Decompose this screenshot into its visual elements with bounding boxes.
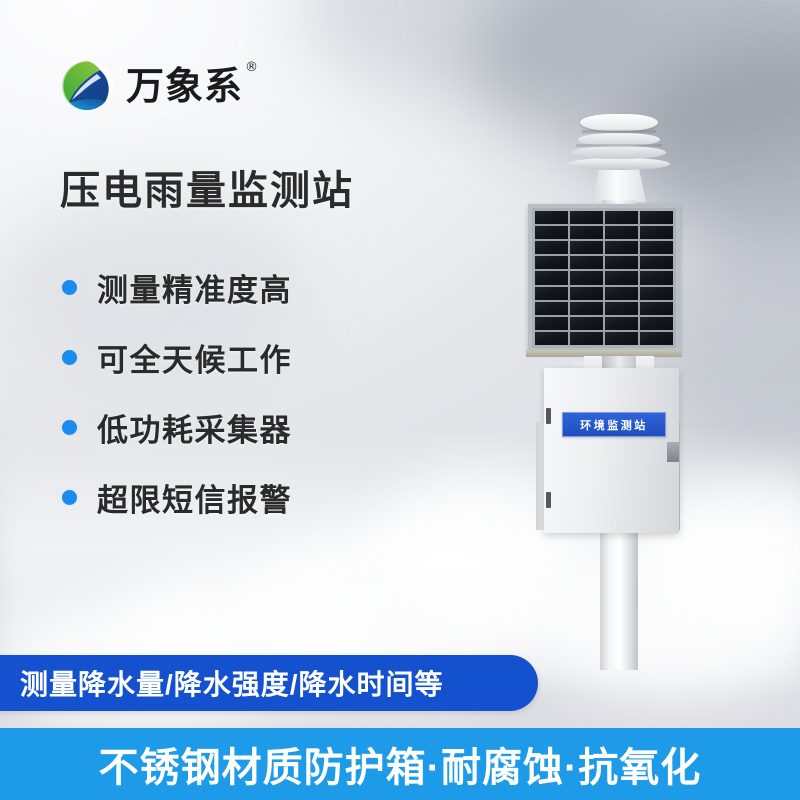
solar-cell	[535, 302, 568, 315]
cabinet-hinge	[546, 408, 551, 424]
solar-cell	[570, 302, 603, 315]
solar-panel-icon	[528, 204, 680, 352]
solar-cell	[570, 332, 603, 345]
feature-label: 可全天候工作	[97, 335, 292, 380]
solar-cell	[535, 332, 568, 345]
solar-cell	[535, 317, 568, 330]
feature-label: 超限短信报警	[97, 475, 292, 520]
pill-banner: 测量降水量/降水强度/降水时间等	[0, 655, 538, 711]
solar-cell	[570, 241, 603, 254]
solar-cell	[605, 287, 638, 300]
sensor-shield-disc	[572, 146, 666, 159]
list-item: 超限短信报警	[62, 468, 292, 526]
bullet-dot-icon	[62, 280, 77, 295]
solar-cell	[570, 256, 603, 269]
solar-cell	[605, 256, 638, 269]
solar-cell	[570, 226, 603, 239]
product-image: 环境监测站	[470, 100, 800, 670]
solar-cell	[605, 302, 638, 315]
solar-cell	[535, 256, 568, 269]
bullet-dot-icon	[62, 350, 77, 365]
cabinet-hinge	[546, 492, 551, 508]
brand-wordmark: 万象系 ®	[126, 67, 243, 105]
solar-cell	[605, 271, 638, 284]
solar-cell	[640, 211, 673, 224]
solar-cell	[640, 256, 673, 269]
solar-cell	[605, 211, 638, 224]
solar-cell	[605, 332, 638, 345]
solar-cell	[570, 317, 603, 330]
product-poster: 万象系 ® 压电雨量监测站 测量精准度高 可全天候工作 低功耗采集器 超限短信报…	[0, 0, 800, 800]
solar-cell	[535, 211, 568, 224]
solar-cell	[640, 287, 673, 300]
corner-highlight	[0, 0, 420, 300]
feature-label: 低功耗采集器	[97, 405, 292, 450]
solar-cell	[640, 241, 673, 254]
solar-cell	[535, 241, 568, 254]
cabinet-label-text: 环境监测站	[580, 417, 648, 433]
list-item: 低功耗采集器	[62, 398, 292, 456]
solar-cell	[535, 287, 568, 300]
solar-cell	[640, 271, 673, 284]
solar-cell	[605, 241, 638, 254]
solar-cell	[570, 271, 603, 284]
brand-name: 万象系	[126, 64, 243, 108]
solar-cell	[640, 317, 673, 330]
sensor-vent-gap	[582, 130, 656, 133]
bottom-banner-text: 不锈钢材质防护箱·耐腐蚀·抗氧化	[99, 735, 702, 793]
control-cabinet	[544, 368, 679, 533]
page-title: 压电雨量监测站	[60, 168, 354, 214]
solar-cell	[535, 226, 568, 239]
solar-cell	[605, 317, 638, 330]
solar-cell	[605, 226, 638, 239]
list-item: 可全天候工作	[62, 328, 292, 386]
sensor-shield-disc	[568, 158, 670, 170]
solar-cell-grid	[535, 211, 673, 345]
bullet-dot-icon	[62, 490, 77, 505]
solar-cell	[640, 302, 673, 315]
sensor-vent-gap	[576, 144, 662, 147]
registered-trademark-icon: ®	[245, 61, 259, 74]
pill-banner-text: 测量降水量/降水强度/降水时间等	[20, 663, 444, 703]
list-item: 测量精准度高	[62, 258, 292, 316]
solar-cell	[640, 226, 673, 239]
globe-swoosh-logo-icon	[60, 58, 116, 114]
rain-gauge-sensor-icon	[566, 108, 672, 218]
bottom-banner: 不锈钢材质防护箱·耐腐蚀·抗氧化	[0, 728, 800, 800]
feature-list: 测量精准度高 可全天候工作 低功耗采集器 超限短信报警	[62, 258, 292, 538]
brand-logo: 万象系 ®	[60, 58, 243, 114]
cabinet-label-plate: 环境监测站	[562, 412, 666, 437]
bullet-dot-icon	[62, 420, 77, 435]
mounting-pole-lower	[600, 530, 638, 670]
cabinet-latch	[667, 442, 679, 462]
feature-label: 测量精准度高	[97, 265, 292, 310]
sensor-cap	[580, 114, 658, 131]
solar-cell	[570, 287, 603, 300]
sensor-body	[592, 166, 646, 202]
solar-cell	[570, 211, 603, 224]
solar-cell	[640, 332, 673, 345]
solar-cell	[535, 271, 568, 284]
